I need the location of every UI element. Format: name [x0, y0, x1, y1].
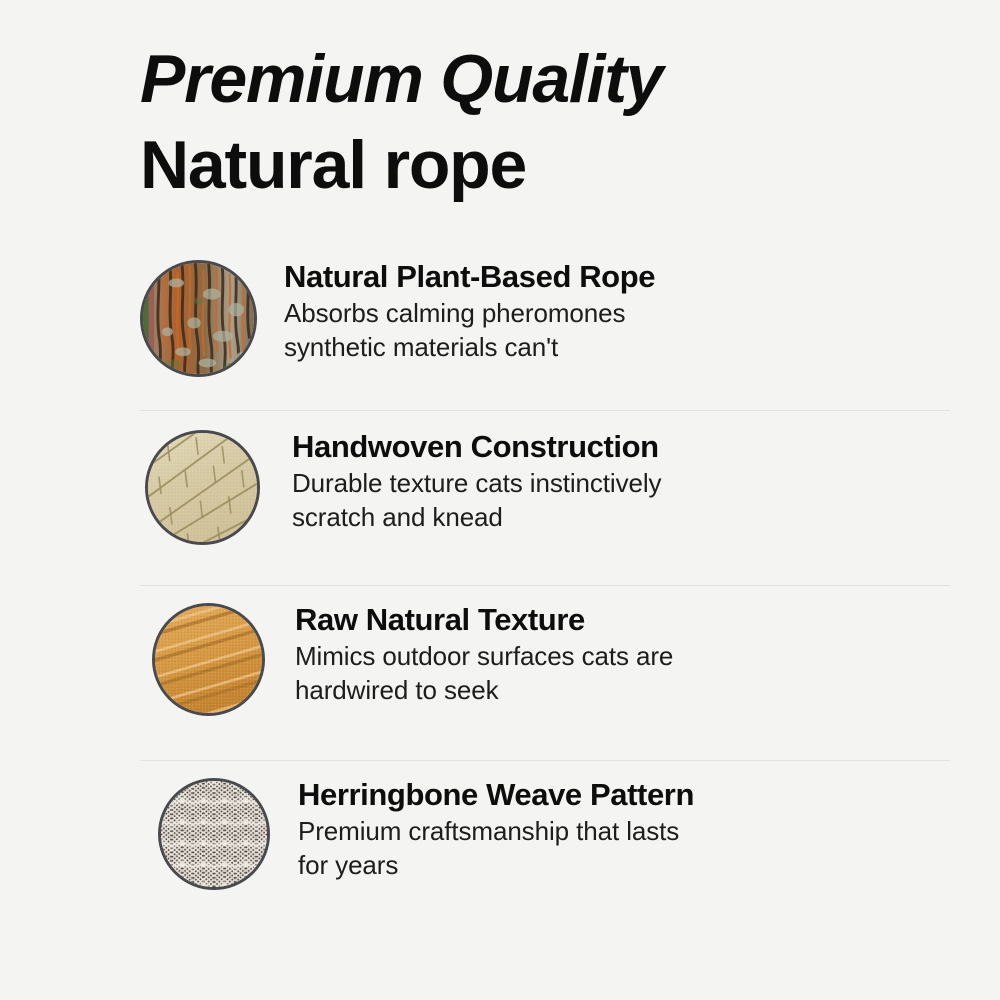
feature-list: Natural Plant-Based Rope Absorbs calming…: [0, 248, 1000, 935]
feature-title: Raw Natural Texture: [295, 601, 673, 639]
feature-description-line: synthetic materials can't: [284, 330, 655, 364]
feature-row: Natural Plant-Based Rope Absorbs calming…: [0, 248, 1000, 410]
feature-text-block: Natural Plant-Based Rope Absorbs calming…: [284, 248, 655, 364]
feature-description-line: hardwired to seek: [295, 673, 673, 707]
orange-rope-strand-swatch: [152, 603, 265, 716]
product-feature-card: Premium Quality Natural rope: [0, 0, 1000, 1000]
handwoven-beige-fabric-swatch: [145, 430, 260, 545]
headline-line-1: Premium Quality: [140, 36, 940, 122]
feature-title: Herringbone Weave Pattern: [298, 776, 694, 814]
feature-description-line: for years: [298, 848, 694, 882]
row-divider: [140, 760, 950, 761]
feature-text-block: Herringbone Weave Pattern Premium crafts…: [298, 760, 694, 882]
feature-description-line: Absorbs calming pheromones: [284, 296, 655, 330]
feature-description-line: Mimics outdoor surfaces cats are: [295, 639, 673, 673]
headline-line-2: Natural rope: [140, 122, 940, 208]
row-divider: [140, 585, 950, 586]
feature-text-block: Raw Natural Texture Mimics outdoor surfa…: [295, 585, 673, 707]
page-title: Premium Quality Natural rope: [140, 36, 940, 208]
feature-row: Herringbone Weave Pattern Premium crafts…: [0, 760, 1000, 935]
feature-description-line: scratch and knead: [292, 500, 661, 534]
feature-title: Natural Plant-Based Rope: [284, 258, 655, 296]
feature-row: Handwoven Construction Durable texture c…: [0, 410, 1000, 585]
row-divider: [140, 410, 950, 411]
feature-row: Raw Natural Texture Mimics outdoor surfa…: [0, 585, 1000, 760]
feature-description-line: Durable texture cats instinctively: [292, 466, 661, 500]
tree-bark-texture-swatch: [140, 260, 257, 377]
feature-text-block: Handwoven Construction Durable texture c…: [292, 410, 661, 534]
feature-title: Handwoven Construction: [292, 428, 661, 466]
feature-description-line: Premium craftsmanship that lasts: [298, 814, 694, 848]
herringbone-weave-swatch: [158, 778, 270, 890]
